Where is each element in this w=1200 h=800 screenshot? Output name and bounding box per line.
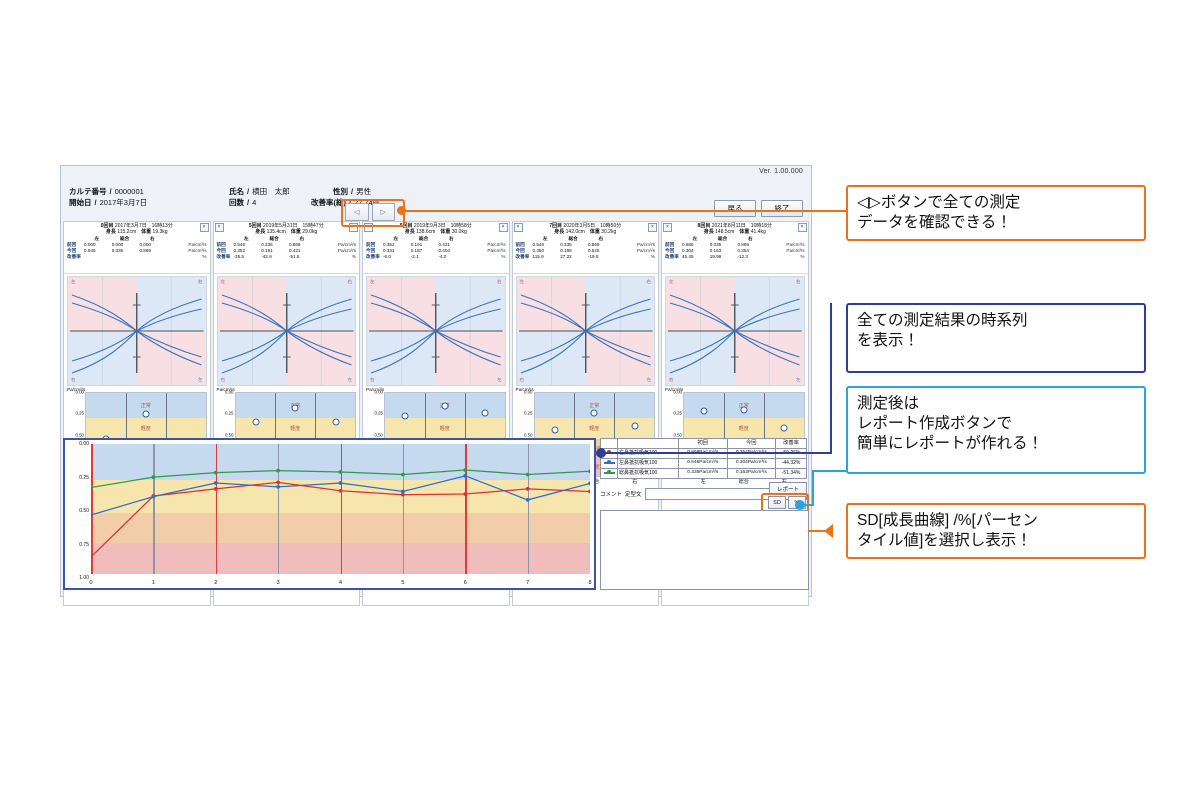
legend-current-value: 0.304Pa/cm³/s <box>727 459 776 469</box>
curve-svg <box>666 277 804 385</box>
legend-column-header <box>618 439 679 449</box>
rhinomanometry-curve-plot: 左右右左 <box>67 276 207 386</box>
chart-data-point <box>401 493 405 497</box>
panel-values-table: 左総合右前回0.5460.3350.869Pa/cm³/s今回0.4500.18… <box>515 236 657 260</box>
severity-data-point <box>292 404 299 411</box>
callout-time-series-text: 全ての測定結果の時系列 を表示！ <box>857 311 1135 351</box>
cell-value: 115.9 <box>532 254 560 260</box>
chart-data-point <box>151 495 155 499</box>
karte-number-label: カルテ番号 <box>69 187 107 196</box>
y-tick-label: 0.25 <box>673 411 682 416</box>
chart-data-point <box>526 473 530 477</box>
y-tick-label: 0.25 <box>524 411 533 416</box>
row-unit: % <box>166 254 207 260</box>
measurement-nav-buttons: ◁ ▷ <box>345 203 395 219</box>
chart-y-tick: 0.00 <box>65 441 89 447</box>
connector-timeseries-v <box>830 303 832 453</box>
chart-data-point <box>91 486 93 490</box>
chart-y-tick: 0.75 <box>65 542 89 548</box>
sex-value: 男性 <box>356 187 371 196</box>
severity-data-point <box>482 409 489 416</box>
chart-data-point <box>214 481 218 485</box>
panel-values-table: 左総合右前回0.3520.1910.421Pa/cm³/s今回0.3310.18… <box>365 236 507 260</box>
cell-value: 19.99 <box>709 254 737 260</box>
legend-first-value: 0.335Pa/cm³/s <box>679 469 728 479</box>
chart-series-svg <box>91 444 590 574</box>
cell-value: -51.5 <box>288 254 316 260</box>
cell-value: -4.0 <box>437 254 465 260</box>
cell-value: 45.45 <box>681 254 709 260</box>
connector-nav <box>401 210 846 212</box>
y-tick-label: 0.25 <box>225 411 234 416</box>
exit-button[interactable]: 終了 <box>761 200 803 217</box>
severity-band-label: 正常 <box>589 402 599 409</box>
chart-data-point <box>276 469 280 473</box>
close-icon[interactable]: × <box>499 223 508 232</box>
legend-first-value: 0.546Pa/cm³/s <box>679 459 728 469</box>
karte-number-value: 0000001 <box>115 187 144 196</box>
panel-biometrics: 身長 142.0cm 体重 30.2kg <box>515 229 657 235</box>
y-tick-label: 0.25 <box>75 411 84 416</box>
cell-value: -2.1 <box>410 254 438 260</box>
y-tick-label: 0.25 <box>374 411 383 416</box>
table-row[interactable]: 左鼻抵抗吸気1000.546Pa/cm³/s0.304Pa/cm³/s-44.3… <box>601 459 807 469</box>
legend-column-header <box>601 439 618 449</box>
close-icon[interactable]: × <box>215 223 224 232</box>
connector-dot-timeseries <box>596 448 606 458</box>
chart-data-point <box>276 485 280 489</box>
row-label: 改善率 <box>216 254 233 260</box>
start-date-label: 開始日 <box>69 198 92 207</box>
severity-band-label: 軽度 <box>290 425 300 432</box>
sex-label: 性別 <box>333 187 348 196</box>
table-row: 改善率45.4519.99-12.3% <box>664 254 806 260</box>
cell-value: -12.3 <box>736 254 764 260</box>
y-tick-label: 0.00 <box>524 390 533 395</box>
legend-series-name: 左鼻抵抗吸気100 <box>618 459 679 469</box>
panel-biometrics: 身長 148.5cm 体重 41.4kg <box>664 229 806 235</box>
severity-band: 軽度 <box>385 418 505 439</box>
chart-data-point <box>151 475 155 479</box>
cell-value: -19.5 <box>587 254 615 260</box>
start-date-value: 2017年3月7日 <box>100 198 148 207</box>
bottom-area: 0.000.250.500.751.00012345678 初回今回改善率 右鼻… <box>63 438 809 596</box>
chart-data-point <box>339 481 343 485</box>
legend-color-swatch <box>601 469 618 479</box>
cell-value: 27.22 <box>559 254 587 260</box>
severity-band-label: 正常 <box>141 402 151 409</box>
severity-data-point <box>631 423 638 430</box>
panel-header: ×0回目 2017年3月7日 16時13分身長 115.2cm 体重 19.3k… <box>64 222 210 274</box>
legend-improvement-value: -51.34% <box>776 469 807 479</box>
y-tick-label: 0.50 <box>524 432 533 437</box>
cell-value <box>83 254 111 260</box>
chart-y-tick: 0.50 <box>65 508 89 514</box>
sep: / <box>92 198 100 207</box>
panel-values-table: 左総合右前回0.0000.0000.000Pa/cm³/s今回0.5460.33… <box>66 236 208 260</box>
row-label: 改善率 <box>664 254 681 260</box>
table-row: 改善率115.927.22-19.5% <box>515 254 657 260</box>
severity-data-point <box>781 424 788 431</box>
y-tick-label: 0.50 <box>374 432 383 437</box>
callout-sd-percent: SD[成長曲線] /%[パーセン タイル値]を選択し表示！ <box>846 503 1146 559</box>
chart-data-point <box>276 481 280 485</box>
row-unit: % <box>615 254 656 260</box>
chart-data-point <box>463 468 467 472</box>
legend-series-name: 総鼻抵抗吸気100 <box>618 469 679 479</box>
table-row: 改善率-6.0-2.1-4.0% <box>365 254 507 260</box>
rhinomanometry-curve-plot: 左右右左 <box>665 276 805 386</box>
rhinomanometry-curve-plot: 左右右左 <box>516 276 656 386</box>
severity-data-point <box>551 427 558 434</box>
severity-data-point <box>252 419 259 426</box>
template-text-label: 定型文 <box>625 490 642 498</box>
chart-x-tick: 2 <box>214 580 217 586</box>
close-icon[interactable]: × <box>200 223 209 232</box>
results-legend-table: 初回今回改善率 右鼻抵抗吸気1000.869Pa/cm³/s0.354Pa/cm… <box>600 438 807 479</box>
time-series-chart[interactable]: 0.000.250.500.751.00012345678 <box>63 438 596 590</box>
time-series-plot-area <box>91 444 590 574</box>
cell-value: -42.9 <box>260 254 288 260</box>
comment-textarea[interactable] <box>600 510 809 590</box>
comment-label: コメント <box>600 490 622 498</box>
table-row: 改善率% <box>66 254 208 260</box>
severity-data-point <box>402 413 409 420</box>
chart-data-point <box>588 482 590 486</box>
connector-report-v <box>812 470 814 506</box>
severity-band-label: 軽度 <box>589 425 599 432</box>
chart-x-tick: 3 <box>277 580 280 586</box>
patient-header: カルテ番号/0000001 開始日/2017年3月7日 氏名/横田 太郎 回数/… <box>61 184 811 218</box>
chart-x-tick: 5 <box>401 580 404 586</box>
chart-data-point <box>214 471 218 475</box>
legend-column-header: 初回 <box>679 439 728 449</box>
legend-improvement-value: -44.32% <box>776 459 807 469</box>
connector-report-h <box>812 470 848 472</box>
severity-data-point <box>332 419 339 426</box>
chart-data-point <box>526 487 530 491</box>
panel-header: ××5回目 2019年5月31日 15時47分身長 135.4cm 体重 29.… <box>214 222 360 274</box>
chart-data-point <box>401 490 405 494</box>
row-label: 改善率 <box>365 254 382 260</box>
chart-data-point <box>463 474 467 478</box>
panel-values-table: 左総合右前回0.5860.3350.869Pa/cm³/s今回0.3040.16… <box>664 236 806 260</box>
visit-count-label: 回数 <box>229 198 244 207</box>
chart-x-tick: 8 <box>588 580 591 586</box>
y-tick-label: 0.00 <box>225 390 234 395</box>
callout-nav-buttons: ◁▷ボタンで全ての測定 データを確認できる！ <box>846 185 1146 241</box>
severity-band-label: 軽度 <box>141 425 151 432</box>
callout-report: 測定後は レポート作成ボタンで 簡単にレポートが作れる！ <box>846 386 1146 474</box>
legend-current-value: 0.163Pa/cm³/s <box>727 469 776 479</box>
panel-values-table: 左総合右前回0.5460.3350.869Pa/cm³/s今回0.3520.19… <box>216 236 358 260</box>
severity-data-point <box>740 406 747 413</box>
window-action-buttons: 戻る 終了 <box>714 200 803 217</box>
rhinomanometry-curve-plot: 左右右左 <box>366 276 506 386</box>
curve-svg <box>68 277 206 385</box>
chart-data-point <box>588 469 590 473</box>
close-icon[interactable]: × <box>648 223 657 232</box>
row-unit: % <box>764 254 805 260</box>
y-tick-label: 0.00 <box>374 390 383 395</box>
connector-dot-report <box>795 500 805 510</box>
panel-biometrics: 身長 138.6cm 体重 30.0kg <box>365 229 507 235</box>
chart-x-tick: 1 <box>152 580 155 586</box>
legend-header-row: 初回今回改善率 <box>601 439 807 449</box>
curve-svg <box>517 277 655 385</box>
sep: / <box>107 187 115 196</box>
panel-header: ××6回目 2019年9月3日 10時58分身長 138.6cm 体重 30.0… <box>363 222 509 274</box>
patient-name-value: 横田 太郎 <box>252 187 290 196</box>
panel-biometrics: 身長 115.2cm 体重 19.3kg <box>66 229 208 235</box>
cell-value: -6.0 <box>382 254 410 260</box>
next-measurement-button[interactable]: ▷ <box>372 203 396 221</box>
row-label: 改善率 <box>515 254 532 260</box>
back-button[interactable]: 戻る <box>714 200 756 217</box>
close-icon[interactable]: × <box>663 223 672 232</box>
callout-nav-text: ◁▷ボタンで全ての測定 データを確認できる！ <box>857 193 1135 233</box>
chart-data-point <box>401 473 405 477</box>
chart-data-point <box>339 489 343 493</box>
table-row: 改善率-35.5-42.9-51.5% <box>216 254 358 260</box>
chart-data-point <box>339 470 343 474</box>
connector-sdpct <box>808 530 826 532</box>
version-label: Ver. 1.00.000 <box>759 168 803 175</box>
row-unit: % <box>316 254 357 260</box>
chart-x-tick: 4 <box>339 580 342 586</box>
chart-x-tick: 7 <box>526 580 529 586</box>
y-tick-label: 0.00 <box>75 390 84 395</box>
chart-data-point <box>588 490 590 494</box>
chart-x-tick: 6 <box>464 580 467 586</box>
cell-value: -35.5 <box>233 254 261 260</box>
sep: / <box>244 187 252 196</box>
severity-band-label: 軽度 <box>739 425 749 432</box>
panel-header: ××8回目 2021年8月11日 10時18分身長 148.5cm 体重 41.… <box>662 222 808 274</box>
severity-data-point <box>701 408 708 415</box>
table-row[interactable]: 総鼻抵抗吸気1000.335Pa/cm³/s0.163Pa/cm³/s-51.3… <box>601 469 807 479</box>
callout-time-series: 全ての測定結果の時系列 を表示！ <box>846 303 1146 373</box>
y-tick-label: 0.00 <box>673 390 682 395</box>
chart-y-tick: 1.00 <box>65 575 89 581</box>
close-icon[interactable]: × <box>798 223 807 232</box>
legend-panel: 初回今回改善率 右鼻抵抗吸気1000.869Pa/cm³/s0.354Pa/cm… <box>600 438 807 590</box>
cell-value <box>138 254 166 260</box>
sep: / <box>348 187 356 196</box>
sep: / <box>244 198 252 207</box>
application-window: Ver. 1.00.000 カルテ番号/0000001 開始日/2017年3月7… <box>60 165 812 597</box>
legend-column-header: 今回 <box>727 439 776 449</box>
cell-value <box>111 254 139 260</box>
chart-data-point <box>214 487 218 491</box>
y-tick-label: 0.50 <box>673 432 682 437</box>
severity-data-point <box>441 403 448 410</box>
row-unit: % <box>465 254 506 260</box>
row-label: 改善率 <box>66 254 83 260</box>
close-icon[interactable]: × <box>514 223 523 232</box>
chart-data-point <box>526 498 530 502</box>
callout-report-text: 測定後は レポート作成ボタンで 簡単にレポートが作れる！ <box>857 394 1135 454</box>
chart-x-tick: 0 <box>89 580 92 586</box>
prev-measurement-button[interactable]: ◁ <box>345 203 369 221</box>
panel-header: ××7回目 2020年3月5日 10時50分身長 142.0cm 体重 30.2… <box>513 222 659 274</box>
legend-column-header: 改善率 <box>776 439 807 449</box>
connector-timeseries-h <box>600 452 832 454</box>
chart-y-tick: 0.25 <box>65 475 89 481</box>
severity-data-point <box>142 410 149 417</box>
panel-biometrics: 身長 135.4cm 体重 29.0kg <box>216 229 358 235</box>
y-tick-label: 0.50 <box>225 432 234 437</box>
patient-name-label: 氏名 <box>229 187 244 196</box>
severity-band-label: 軽度 <box>440 425 450 432</box>
curve-svg <box>367 277 505 385</box>
chart-data-point <box>91 513 93 517</box>
callout-sd-percent-text: SD[成長曲線] /%[パーセン タイル値]を選択し表示！ <box>857 511 1135 551</box>
curve-svg <box>218 277 356 385</box>
severity-data-point <box>591 409 598 416</box>
chart-data-point <box>463 492 467 496</box>
legend-color-swatch <box>601 459 618 469</box>
visit-count-value: 4 <box>252 198 256 207</box>
y-tick-label: 0.50 <box>75 432 84 437</box>
rhinomanometry-curve-plot: 左右右左 <box>217 276 357 386</box>
